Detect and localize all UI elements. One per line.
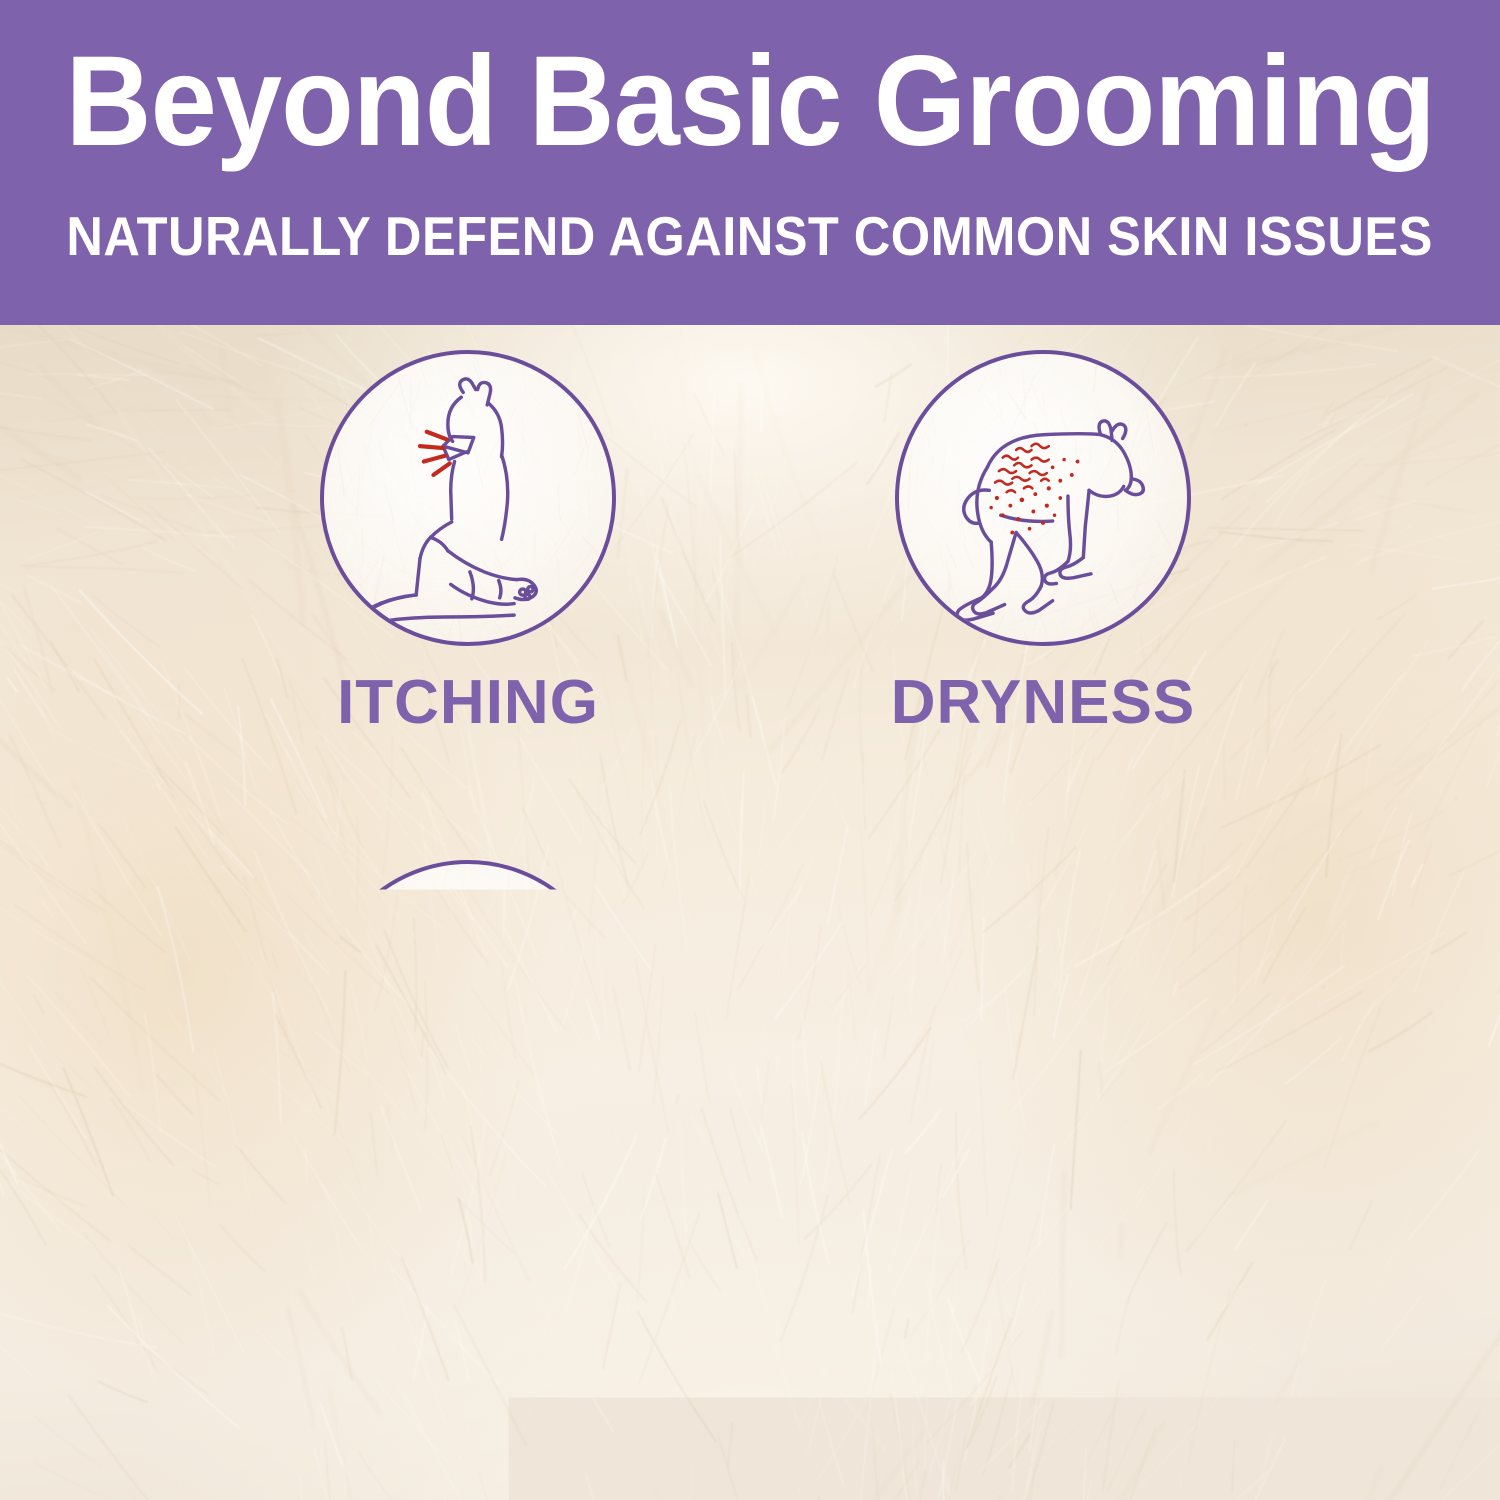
benefit-tile-itching: ITCHING [253, 350, 683, 734]
dog-irritated-patches-icon [324, 864, 612, 1152]
page-title: Beyond Basic Grooming [65, 38, 1434, 166]
itching-badge [320, 350, 616, 646]
benefit-tile-irritation: IRRITATION [253, 860, 683, 1244]
benefit-tile-dryness: DRYNESS [828, 350, 1258, 734]
benefit-tile-odor: ODOR [828, 860, 1258, 1244]
benefit-label-itching: ITCHING [253, 672, 683, 734]
benefit-label-irritation: IRRITATION [253, 1182, 683, 1244]
benefit-label-dryness: DRYNESS [828, 672, 1258, 734]
page-subtitle: NATURALLY DEFEND AGAINST COMMON SKIN ISS… [67, 204, 1433, 268]
dog-dry-flaky-skin-icon [899, 354, 1187, 642]
dog-scratching-icon [324, 354, 612, 642]
benefit-label-odor: ODOR [828, 1182, 1258, 1244]
irritation-badge [320, 860, 616, 1156]
benefits-grid: ITCHING [0, 325, 1500, 1500]
product-infographic: Beyond Basic Grooming NATURALLY DEFEND A… [0, 0, 1500, 1500]
dog-odor-waves-icon [899, 864, 1187, 1152]
header-banner: Beyond Basic Grooming NATURALLY DEFEND A… [0, 0, 1500, 325]
dryness-badge [895, 350, 1191, 646]
odor-badge [895, 860, 1191, 1156]
